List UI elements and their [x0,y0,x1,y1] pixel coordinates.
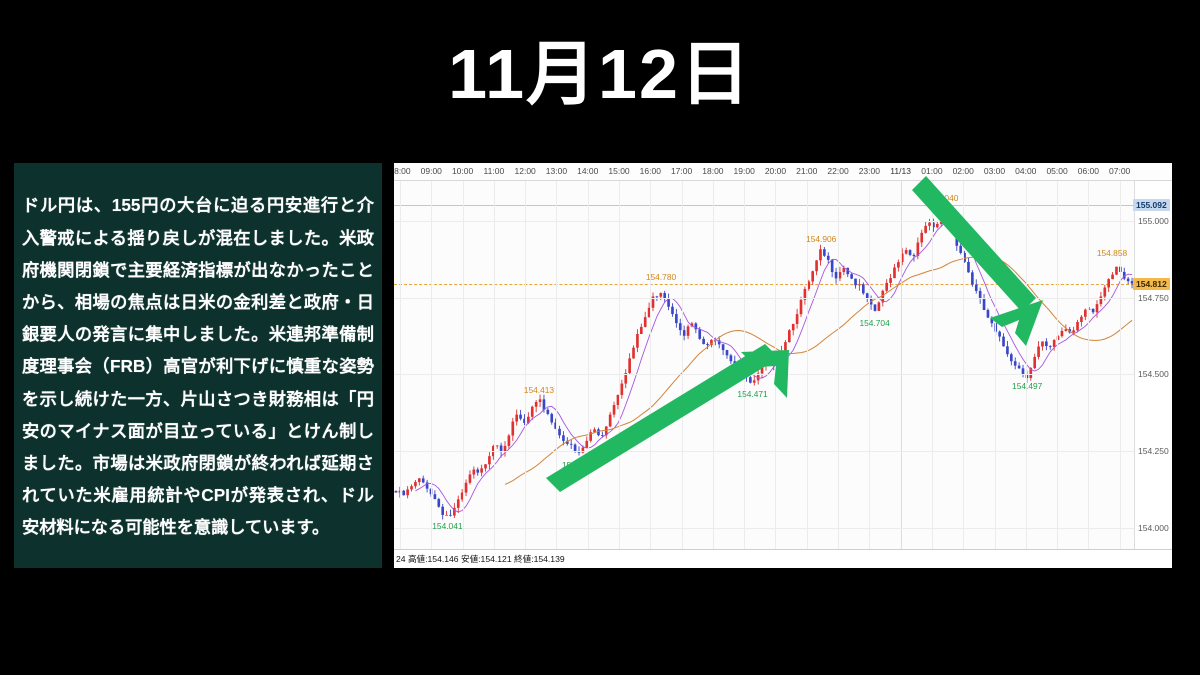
commentary-panel: ドル円は、155円の大台に迫る円安進行と介入警戒による揺り戻しが混在しました。米… [14,163,382,568]
chart-gridline-horizontal [394,528,1134,529]
fx-chart-window[interactable]: 08:0009:0010:0011:0012:0013:0014:0015:00… [394,163,1172,568]
time-axis-label: 20:00 [765,166,786,176]
time-axis-label: 16:00 [640,166,661,176]
chart-gridline-vertical [650,181,651,549]
chart-gridline-vertical [494,181,495,549]
chart-price-axis: 155.092 154.812 154.000154.250154.500154… [1134,181,1172,549]
chart-gridline-vertical [995,181,996,549]
chart-gridline-vertical [1026,181,1027,549]
time-axis-label: 13:00 [546,166,567,176]
time-axis-label: 15:00 [608,166,629,176]
time-axis-label: 14:00 [577,166,598,176]
price-axis-label: 154.250 [1138,446,1169,456]
chart-gridline-horizontal [394,451,1134,452]
time-axis-label: 19:00 [734,166,755,176]
chart-gridline-vertical [713,181,714,549]
time-axis-label: 23:00 [859,166,880,176]
chart-gridline-vertical [556,181,557,549]
chart-gridline-vertical [1088,181,1089,549]
price-series [394,181,1134,549]
time-axis-label: 05:00 [1046,166,1067,176]
chart-gridline-vertical [588,181,589,549]
price-annotation-low: 154.704 [859,318,889,328]
chart-gridline-vertical [400,181,401,549]
chart-gridline-vertical [932,181,933,549]
chart-gridline-vertical [838,181,839,549]
chart-time-axis: 08:0009:0010:0011:0012:0013:0014:0015:00… [394,163,1172,181]
time-axis-label: 17:00 [671,166,692,176]
page-title: 11月12日 [0,34,1200,114]
price-annotation-high: 154.780 [646,272,676,282]
time-axis-label: 10:00 [452,166,473,176]
price-annotation-low: 154.041 [432,521,462,531]
chart-gridline-vertical [525,181,526,549]
chart-gridline-horizontal [394,221,1134,222]
time-axis-label: 06:00 [1078,166,1099,176]
chart-gridline-vertical [1120,181,1121,549]
price-annotation-high: 154.413 [524,385,554,395]
chart-gridline-horizontal [394,298,1134,299]
time-axis-label: 18:00 [702,166,723,176]
time-axis-label: 21:00 [796,166,817,176]
time-axis-label: 03:00 [984,166,1005,176]
price-annotation-low: 154.471 [737,389,767,399]
time-axis-label: 01:00 [921,166,942,176]
chart-plot-area[interactable]: 154.041154.413154.239154.780154.471154.9… [394,181,1134,549]
screenshot-root: 11月12日 ドル円は、155円の大台に迫る円安進行と介入警戒による揺り戻しが混… [0,0,1200,675]
price-annotation-high: 154.906 [806,234,836,244]
commentary-text: ドル円は、155円の大台に迫る円安進行と介入警戒による揺り戻しが混在しました。米… [22,189,374,543]
status-bar-text: 24 高値:154.146 安値:154.121 終値:154.139 [394,553,565,565]
price-annotation-high: 154.858 [1097,248,1127,258]
chart-gridline-horizontal [394,374,1134,375]
current-price-badge: 154.812 [1133,278,1170,290]
session-high-badge: 155.092 [1133,199,1170,211]
chart-gridline-vertical [463,181,464,549]
time-axis-label: 04:00 [1015,166,1036,176]
price-annotation-low: 154.497 [1012,381,1042,391]
time-axis-label: 11/13 [890,166,911,176]
time-axis-label: 09:00 [421,166,442,176]
chart-gridline-vertical [431,181,432,549]
chart-gridline-vertical [775,181,776,549]
chart-status-bar: 24 高値:154.146 安値:154.121 終値:154.139 [394,549,1172,568]
price-axis-label: 154.500 [1138,369,1169,379]
chart-gridline-vertical [619,181,620,549]
price-axis-label: 154.000 [1138,523,1169,533]
chart-gridline-vertical [744,181,745,549]
chart-gridline-vertical [963,181,964,549]
time-axis-label: 12:00 [515,166,536,176]
time-axis-label: 08:00 [394,166,411,176]
time-axis-label: 07:00 [1109,166,1130,176]
chart-gridline-vertical [901,181,902,549]
chart-gridline-vertical [869,181,870,549]
time-axis-label: 11:00 [484,166,505,176]
time-axis-label: 22:00 [827,166,848,176]
price-annotation-high: 155.040 [928,193,958,203]
price-axis-label: 154.750 [1138,293,1169,303]
chart-gridline-vertical [682,181,683,549]
price-annotation-low: 154.239 [562,460,592,470]
chart-gridline-vertical [1057,181,1058,549]
time-axis-label: 02:00 [953,166,974,176]
price-axis-label: 155.000 [1138,216,1169,226]
